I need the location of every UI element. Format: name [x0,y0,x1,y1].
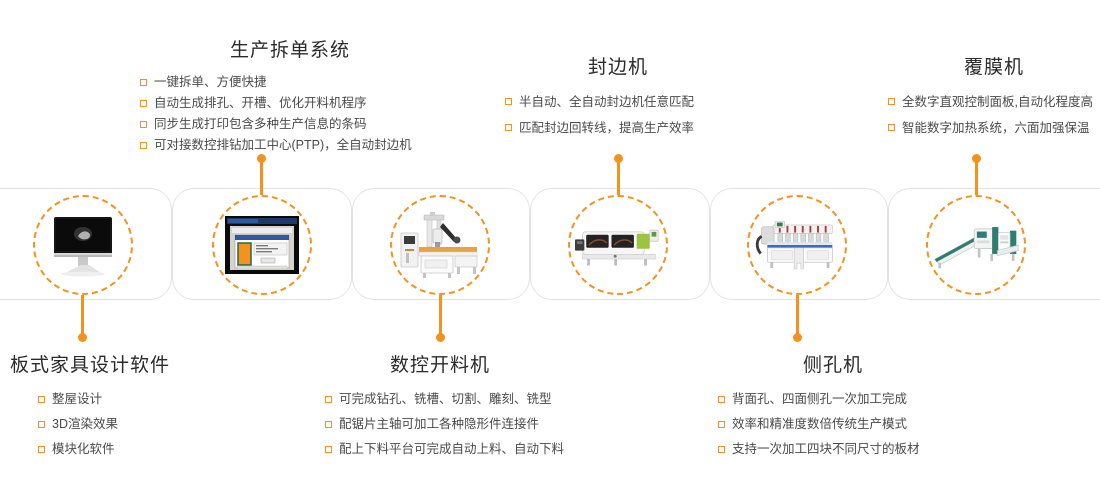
node-split-order-system[interactable] [212,195,312,295]
block-side-drilling: 侧孔机 背面孔、四面侧孔一次加工完成 效率和精准度数倍传统生产模式 支持一次加工… [718,355,948,462]
node-design-software[interactable] [33,195,133,295]
square-outline-icon [140,79,147,86]
list-item-label: 支持一次加工四块不同尺寸的板材 [732,437,920,462]
square-outline-icon [325,446,332,453]
node-laminating[interactable] [926,195,1026,295]
list-item: 同步生成打印包含多种生产信息的条码 [140,114,440,135]
bullet-list: 背面孔、四面侧孔一次加工完成 效率和精准度数倍传统生产模式 支持一次加工四块不同… [718,387,948,462]
edge-banding-machine-icon [575,210,661,280]
connector-dot-6 [972,154,981,163]
square-outline-icon [505,98,512,105]
connector-stem-2 [260,158,263,198]
node-cnc-cutting[interactable] [390,195,490,295]
list-item-label: 自动生成排孔、开槽、优化开料机程序 [154,93,367,114]
list-item: 配上下料平台可完成自动上料、自动下料 [325,437,555,462]
square-outline-icon [38,421,45,428]
block-cnc-cutting: 数控开料机 可完成钻孔、铣槽、切割、雕刻、铣型 配锯片主轴可加工各种隐形件连接件… [325,355,555,462]
list-item-label: 全数字直观控制面板,自动化程度高 [902,89,1093,115]
imac-monitor-icon [40,210,126,280]
connector-stem-4 [617,158,620,198]
square-outline-icon [325,421,332,428]
block-title: 板式家具设计软件 [10,355,240,378]
block-title: 封边机 [505,57,731,80]
list-item-label: 模块化软件 [52,437,115,462]
list-item: 全数字直观控制面板,自动化程度高 [888,89,1100,115]
list-item-label: 可完成钻孔、铣槽、切割、雕刻、铣型 [339,387,552,412]
connector-stem-1 [81,295,84,337]
list-item: 半自动、全自动封边机任意匹配 [505,89,731,115]
side-drilling-machine-icon [754,210,840,280]
square-outline-icon [505,124,512,131]
square-outline-icon [888,98,895,105]
square-outline-icon [38,446,45,453]
block-design-software: 板式家具设计软件 整屋设计 3D渲染效果 模块化软件 [10,355,240,462]
connector-dot-4 [614,154,623,163]
list-item: 可对接数控排钻加工中心(PTP)，全自动封边机 [140,135,440,156]
list-item: 智能数字加热系统，六面加强保温 [888,115,1100,141]
square-outline-icon [38,396,45,403]
list-item-label: 匹配封边回转线，提高生产效率 [519,115,694,141]
list-item-label: 可对接数控排钻加工中心(PTP)，全自动封边机 [154,135,412,156]
list-item: 支持一次加工四块不同尺寸的板材 [718,437,948,462]
list-item: 整屋设计 [38,387,240,412]
bullet-list: 全数字直观控制面板,自动化程度高 智能数字加热系统，六面加强保温 [888,89,1100,141]
connector-stem-6 [975,158,978,198]
bullet-list: 一键拆单、方便快捷 自动生成排孔、开槽、优化开料机程序 同步生成打印包含多种生产… [140,72,440,156]
list-item-label: 3D渲染效果 [52,412,118,437]
list-item-label: 效率和精准度数倍传统生产模式 [732,412,907,437]
square-outline-icon [140,142,147,149]
list-item: 背面孔、四面侧孔一次加工完成 [718,387,948,412]
bullet-list: 半自动、全自动封边机任意匹配 匹配封边回转线，提高生产效率 [505,89,731,141]
cad-software-screen-icon [219,210,305,280]
list-item-label: 智能数字加热系统，六面加强保温 [902,115,1090,141]
connector-dot-1 [78,333,87,342]
block-split-order-system: 生产拆单系统 一键拆单、方便快捷 自动生成排孔、开槽、优化开料机程序 同步生成打… [140,40,440,156]
block-title: 数控开料机 [325,355,555,378]
list-item-label: 整屋设计 [52,387,102,412]
list-item: 匹配封边回转线，提高生产效率 [505,115,731,141]
square-outline-icon [325,396,332,403]
laminating-machine-icon [933,210,1019,280]
list-item: 效率和精准度数倍传统生产模式 [718,412,948,437]
node-edge-banding[interactable] [568,195,668,295]
cnc-router-machine-icon [397,210,483,280]
block-laminating: 覆膜机 全数字直观控制面板,自动化程度高 智能数字加热系统，六面加强保温 [888,57,1100,141]
list-item-label: 配锯片主轴可加工各种隐形件连接件 [339,412,539,437]
connector-stem-3 [439,295,442,337]
list-item: 3D渲染效果 [38,412,240,437]
list-item-label: 背面孔、四面侧孔一次加工完成 [732,387,907,412]
connector-dot-3 [436,333,445,342]
node-side-hole-drilling[interactable] [747,195,847,295]
square-outline-icon [718,396,725,403]
list-item-label: 配上下料平台可完成自动上料、自动下料 [339,437,564,462]
list-item-label: 半自动、全自动封边机任意匹配 [519,89,694,115]
block-title: 生产拆单系统 [140,40,440,63]
bullet-list: 整屋设计 3D渲染效果 模块化软件 [10,387,240,462]
block-edge-banding: 封边机 半自动、全自动封边机任意匹配 匹配封边回转线，提高生产效率 [505,57,731,141]
square-outline-icon [888,124,895,131]
bullet-list: 可完成钻孔、铣槽、切割、雕刻、铣型 配锯片主轴可加工各种隐形件连接件 配上下料平… [325,387,555,462]
square-outline-icon [718,446,725,453]
list-item: 可完成钻孔、铣槽、切割、雕刻、铣型 [325,387,555,412]
square-outline-icon [140,121,147,128]
block-title: 侧孔机 [718,355,948,378]
list-item-label: 一键拆单、方便快捷 [154,72,267,93]
list-item: 模块化软件 [38,437,240,462]
list-item: 配锯片主轴可加工各种隐形件连接件 [325,412,555,437]
connector-dot-5 [793,333,802,342]
block-title: 覆膜机 [888,57,1100,80]
square-outline-icon [140,100,147,107]
square-outline-icon [718,421,725,428]
list-item: 自动生成排孔、开槽、优化开料机程序 [140,93,440,114]
list-item: 一键拆单、方便快捷 [140,72,440,93]
connector-stem-5 [796,295,799,337]
list-item-label: 同步生成打印包含多种生产信息的条码 [154,114,367,135]
process-flow-infographic: 生产拆单系统 一键拆单、方便快捷 自动生成排孔、开槽、优化开料机程序 同步生成打… [0,0,1100,495]
